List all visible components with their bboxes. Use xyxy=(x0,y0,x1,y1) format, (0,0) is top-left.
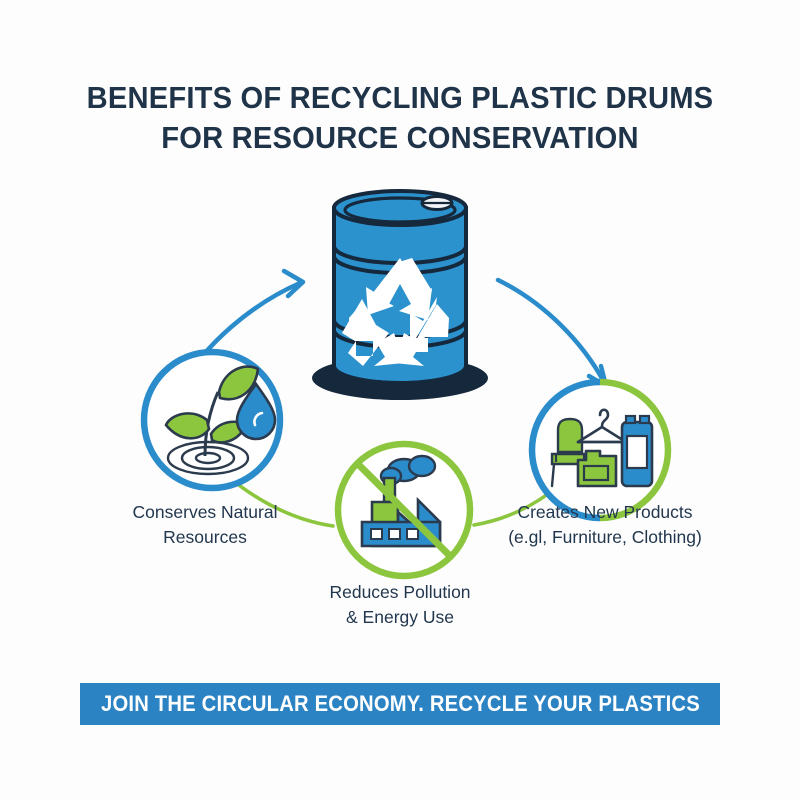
label-line-1: Conserves Natural xyxy=(60,500,350,525)
label-reduces-pollution: Reduces Pollution & Energy Use xyxy=(255,580,545,630)
connector-arrow-drum-to-right xyxy=(498,280,606,386)
label-line-2: Resources xyxy=(60,525,350,550)
title-line-2: FOR RESOURCE CONSERVATION xyxy=(24,118,776,158)
page-title: BENEFITS OF RECYCLING PLASTIC DRUMS FOR … xyxy=(0,78,800,158)
infographic-poster: BENEFITS OF RECYCLING PLASTIC DRUMS FOR … xyxy=(0,0,800,800)
label-conserves-natural-resources: Conserves Natural Resources xyxy=(60,500,350,550)
banner-text: JOIN THE CIRCULAR ECONOMY. RECYCLE YOUR … xyxy=(101,691,700,717)
blue-container-icon xyxy=(622,416,652,486)
node-creates-new-products[interactable] xyxy=(532,382,668,518)
call-to-action-banner[interactable]: JOIN THE CIRCULAR ECONOMY. RECYCLE YOUR … xyxy=(80,683,720,725)
node-reduces-pollution[interactable] xyxy=(338,444,470,576)
factory-window xyxy=(407,529,418,539)
blue-plastic-drum xyxy=(312,191,488,400)
label-creates-new-products: Creates New Products (e.gl, Furniture, C… xyxy=(455,500,755,550)
label-line-1: Creates New Products xyxy=(455,500,755,525)
label-line-2: & Energy Use xyxy=(255,605,545,630)
label-line-2: (e.gl, Furniture, Clothing) xyxy=(455,525,755,550)
node-conserves-natural-resources[interactable] xyxy=(144,352,280,488)
factory-window xyxy=(389,529,400,539)
title-line-1: BENEFITS OF RECYCLING PLASTIC DRUMS xyxy=(24,78,776,118)
factory-window xyxy=(371,529,382,539)
diagram-stage: Conserves Natural Resources Creates New … xyxy=(0,170,800,660)
label-line-1: Reduces Pollution xyxy=(255,580,545,605)
